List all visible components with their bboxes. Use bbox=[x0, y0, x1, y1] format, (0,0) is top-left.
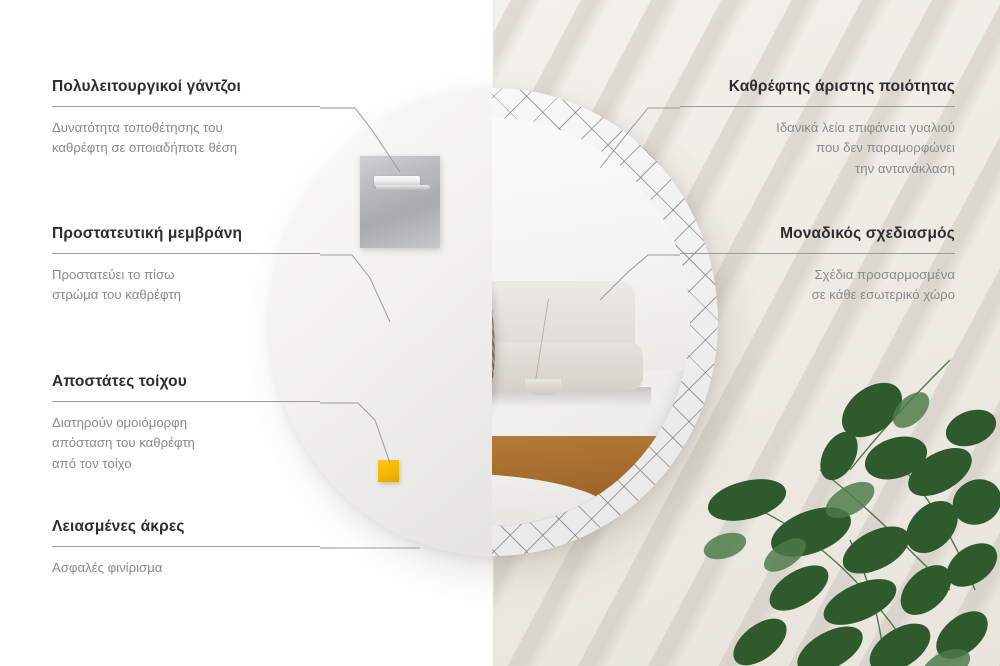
callout-membrane-rule bbox=[52, 253, 320, 254]
mirror-glass-surface bbox=[492, 118, 690, 526]
callout-edges: Λειασμένες άκρες Ασφαλές φινίρισμα bbox=[52, 518, 320, 578]
round-mirror-product bbox=[270, 88, 718, 556]
callout-membrane-body: Προστατεύει το πίσω στρώμα του καθρέφτη bbox=[52, 265, 320, 306]
callout-spacers-rule bbox=[52, 401, 320, 402]
infographic-canvas: Πολυλειτουργικοί γάντζοι Δυνατότητα τοπο… bbox=[0, 0, 1000, 666]
callout-unique-design: Μοναδικός σχεδιασμός Σχέδια προσαρμοσμέν… bbox=[680, 225, 955, 306]
callout-unique-design-title: Μοναδικός σχεδιασμός bbox=[680, 225, 955, 244]
reflected-pendant-shade bbox=[525, 379, 560, 395]
callout-unique-design-body: Σχέδια προσαρμοσμένα σε κάθε εσωτερικό χ… bbox=[680, 265, 955, 306]
decorative-plant-foliage bbox=[700, 350, 1000, 666]
callout-quality-mirror-title: Καθρέφτης άριστης ποιότητας bbox=[680, 78, 955, 97]
callout-hooks-rule bbox=[52, 106, 320, 107]
callout-edges-title: Λειασμένες άκρες bbox=[52, 518, 320, 537]
callout-spacers-body: Διατηρούν ομοιόμορφη απόσταση του καθρέφ… bbox=[52, 413, 320, 474]
callout-quality-mirror-body: Ιδανικά λεία επιφάνεια γυαλιού που δεν π… bbox=[680, 118, 955, 179]
callout-quality-mirror: Καθρέφτης άριστης ποιότητας Ιδανικά λεία… bbox=[680, 78, 955, 179]
callout-edges-rule bbox=[52, 546, 320, 547]
hook-arm-icon bbox=[376, 185, 430, 190]
callout-edges-body: Ασφαλές φινίρισμα bbox=[52, 558, 320, 578]
callout-membrane: Προστατευτική μεμβράνη Προστατεύει το πί… bbox=[52, 225, 320, 306]
callout-quality-mirror-rule bbox=[680, 106, 955, 107]
callout-hooks: Πολυλειτουργικοί γάντζοι Δυνατότητα τοπο… bbox=[52, 78, 320, 159]
callout-spacers: Αποστάτες τοίχου Διατηρούν ομοιόμορφη απ… bbox=[52, 373, 320, 474]
callout-unique-design-rule bbox=[680, 253, 955, 254]
wall-spacer-yellow bbox=[378, 460, 399, 482]
callout-spacers-title: Αποστάτες τοίχου bbox=[52, 373, 320, 392]
leaves-icon bbox=[700, 350, 1000, 666]
callout-membrane-title: Προστατευτική μεμβράνη bbox=[52, 225, 320, 244]
callout-hooks-body: Δυνατότητα τοποθέτησης του καθρέφτη σε ο… bbox=[52, 118, 320, 159]
multifunctional-hook-bracket bbox=[360, 156, 440, 248]
reflected-sofa-backrest bbox=[492, 281, 635, 350]
callout-hooks-title: Πολυλειτουργικοί γάντζοι bbox=[52, 78, 320, 97]
